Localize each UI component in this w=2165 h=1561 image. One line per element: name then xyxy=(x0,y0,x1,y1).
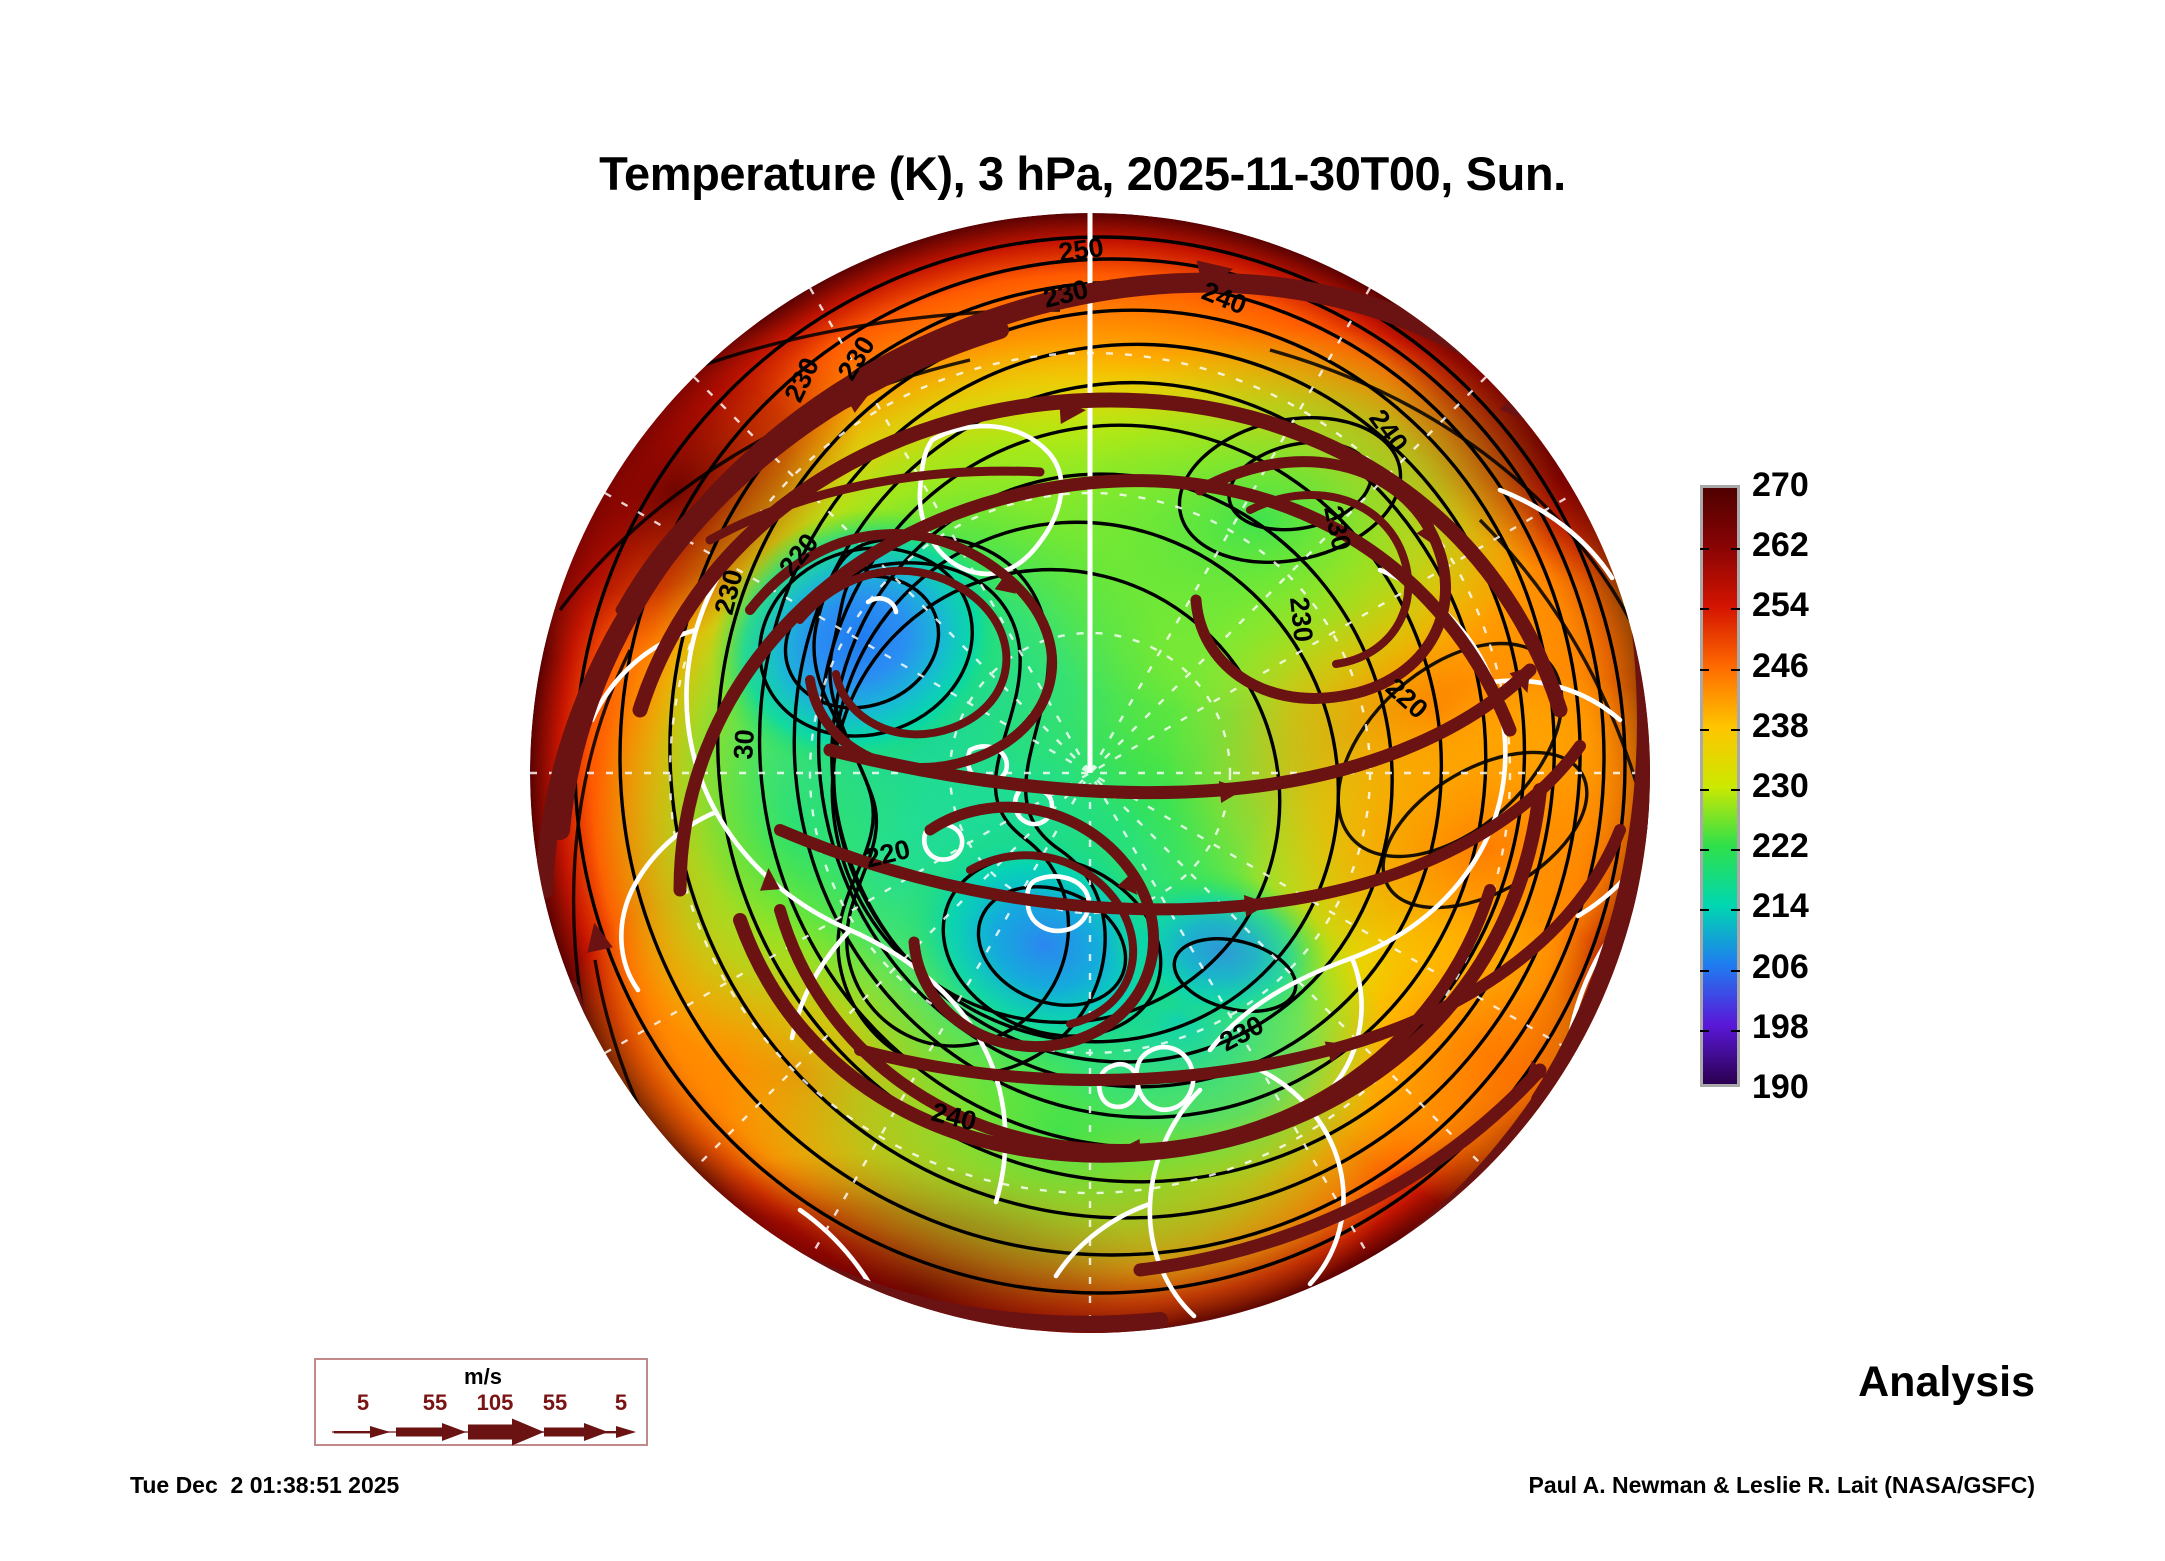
colorbar-tick-label: 222 xyxy=(1752,829,1809,863)
colorbar-tick xyxy=(1731,909,1740,911)
colorbar-tick xyxy=(1700,849,1709,851)
colorbar-tick-label: 190 xyxy=(1752,1070,1809,1104)
colorbar-tick-label: 206 xyxy=(1752,950,1809,984)
colorbar-tick xyxy=(1731,1030,1740,1032)
map-svg: 250 250 240 240 230 230 230 230 230 220 … xyxy=(500,190,1680,1370)
wind-legend-unit: m/s xyxy=(316,1364,650,1390)
polar-stereographic-map[interactable]: 250 250 240 240 230 230 230 230 230 220 … xyxy=(500,190,1680,1370)
wind-legend-value: 55 xyxy=(543,1390,567,1416)
render-timestamp: Tue Dec 2 01:38:51 2025 xyxy=(130,1472,399,1499)
colorbar-tick-label: 262 xyxy=(1752,528,1809,562)
colorbar-tick-label: 254 xyxy=(1752,588,1809,622)
colorbar-tick xyxy=(1700,608,1709,610)
attribution: Paul A. Newman & Leslie R. Lait (NASA/GS… xyxy=(1528,1472,2035,1499)
colorbar[interactable] xyxy=(1700,485,1740,1087)
wind-legend-value: 5 xyxy=(615,1390,627,1416)
wind-legend-value: 55 xyxy=(423,1390,447,1416)
colorbar-tick xyxy=(1731,789,1740,791)
map-field: 250 250 240 240 230 230 230 230 230 220 … xyxy=(500,213,1680,1370)
colorbar-tick xyxy=(1731,608,1740,610)
colorbar-tick-label: 230 xyxy=(1752,769,1809,803)
colorbar-tick-label: 270 xyxy=(1752,468,1809,502)
colorbar-tick xyxy=(1731,849,1740,851)
colorbar-tick-label: 198 xyxy=(1752,1010,1809,1044)
svg-text:30: 30 xyxy=(728,728,760,760)
colorbar-tick-label: 238 xyxy=(1752,709,1809,743)
colorbar-gradient xyxy=(1703,488,1737,1084)
colorbar-tick xyxy=(1731,970,1740,972)
colorbar-tick-label: 246 xyxy=(1752,649,1809,683)
analysis-label: Analysis xyxy=(1858,1358,2035,1407)
colorbar-tick xyxy=(1700,729,1709,731)
colorbar-tick xyxy=(1700,789,1709,791)
svg-text:250: 250 xyxy=(1057,232,1106,268)
svg-text:230: 230 xyxy=(1284,595,1319,643)
colorbar-tick xyxy=(1700,669,1709,671)
colorbar-labels: 270262254246238230222214206198190 xyxy=(1752,485,1882,1087)
wind-legend-value: 5 xyxy=(357,1390,369,1416)
colorbar-tick xyxy=(1700,1030,1709,1032)
wind-legend-value: 105 xyxy=(477,1390,514,1416)
colorbar-tick-label: 214 xyxy=(1752,889,1809,923)
colorbar-tick xyxy=(1700,909,1709,911)
wind-speed-legend[interactable]: m/s 555105555 xyxy=(314,1358,648,1446)
colorbar-tick xyxy=(1700,548,1709,550)
wind-legend-arrows xyxy=(316,1418,650,1446)
colorbar-tick xyxy=(1731,729,1740,731)
colorbar-tick xyxy=(1731,548,1740,550)
colorbar-tick xyxy=(1731,669,1740,671)
colorbar-tick xyxy=(1700,970,1709,972)
wind-legend-values: 555105555 xyxy=(316,1390,650,1416)
